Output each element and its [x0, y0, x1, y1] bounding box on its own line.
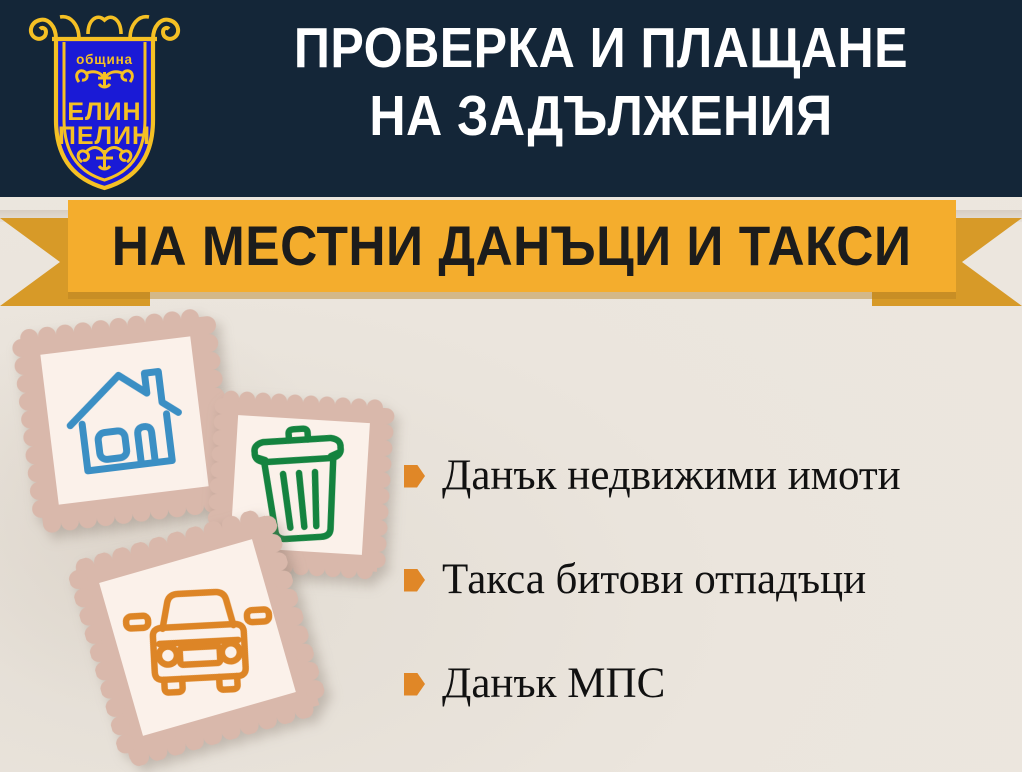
list-item-label: Данък МПС [442, 660, 665, 708]
ribbon-plate: НА МЕСТНИ ДАНЪЦИ И ТАКСИ [68, 200, 956, 292]
ribbon-text: НА МЕСТНИ ДАНЪЦИ И ТАКСИ [112, 218, 912, 274]
emblem-line-1: община [76, 52, 133, 67]
coat-of-arms-emblem: община ЕЛИН ПЕЛИН [22, 8, 187, 193]
list-item-label: Такса битови отпадъци [442, 556, 866, 604]
tax-types-list: Данък недвижими имоти Такса битови отпад… [404, 424, 1004, 736]
page-title: ПРОВЕРКА И ПЛАЩАНЕ НА ЗАДЪЛЖЕНИЯ [231, 14, 972, 150]
ribbon-banner: НА МЕСТНИ ДАНЪЦИ И ТАКСИ [0, 196, 1022, 316]
arrow-bullet-icon [404, 569, 425, 592]
arrow-bullet-icon [404, 465, 425, 488]
list-item[interactable]: Данък МПС [404, 632, 1004, 736]
stamp-card-house [10, 306, 238, 534]
list-item-label: Данък недвижими имоти [442, 452, 901, 500]
list-item[interactable]: Данък недвижими имоти [404, 424, 1004, 528]
poster-root: община ЕЛИН ПЕЛИН ПР [0, 0, 1022, 772]
list-item[interactable]: Такса битови отпадъци [404, 528, 1004, 632]
emblem-line-3: ПЕЛИН [58, 122, 151, 150]
arrow-bullet-icon [404, 673, 425, 696]
